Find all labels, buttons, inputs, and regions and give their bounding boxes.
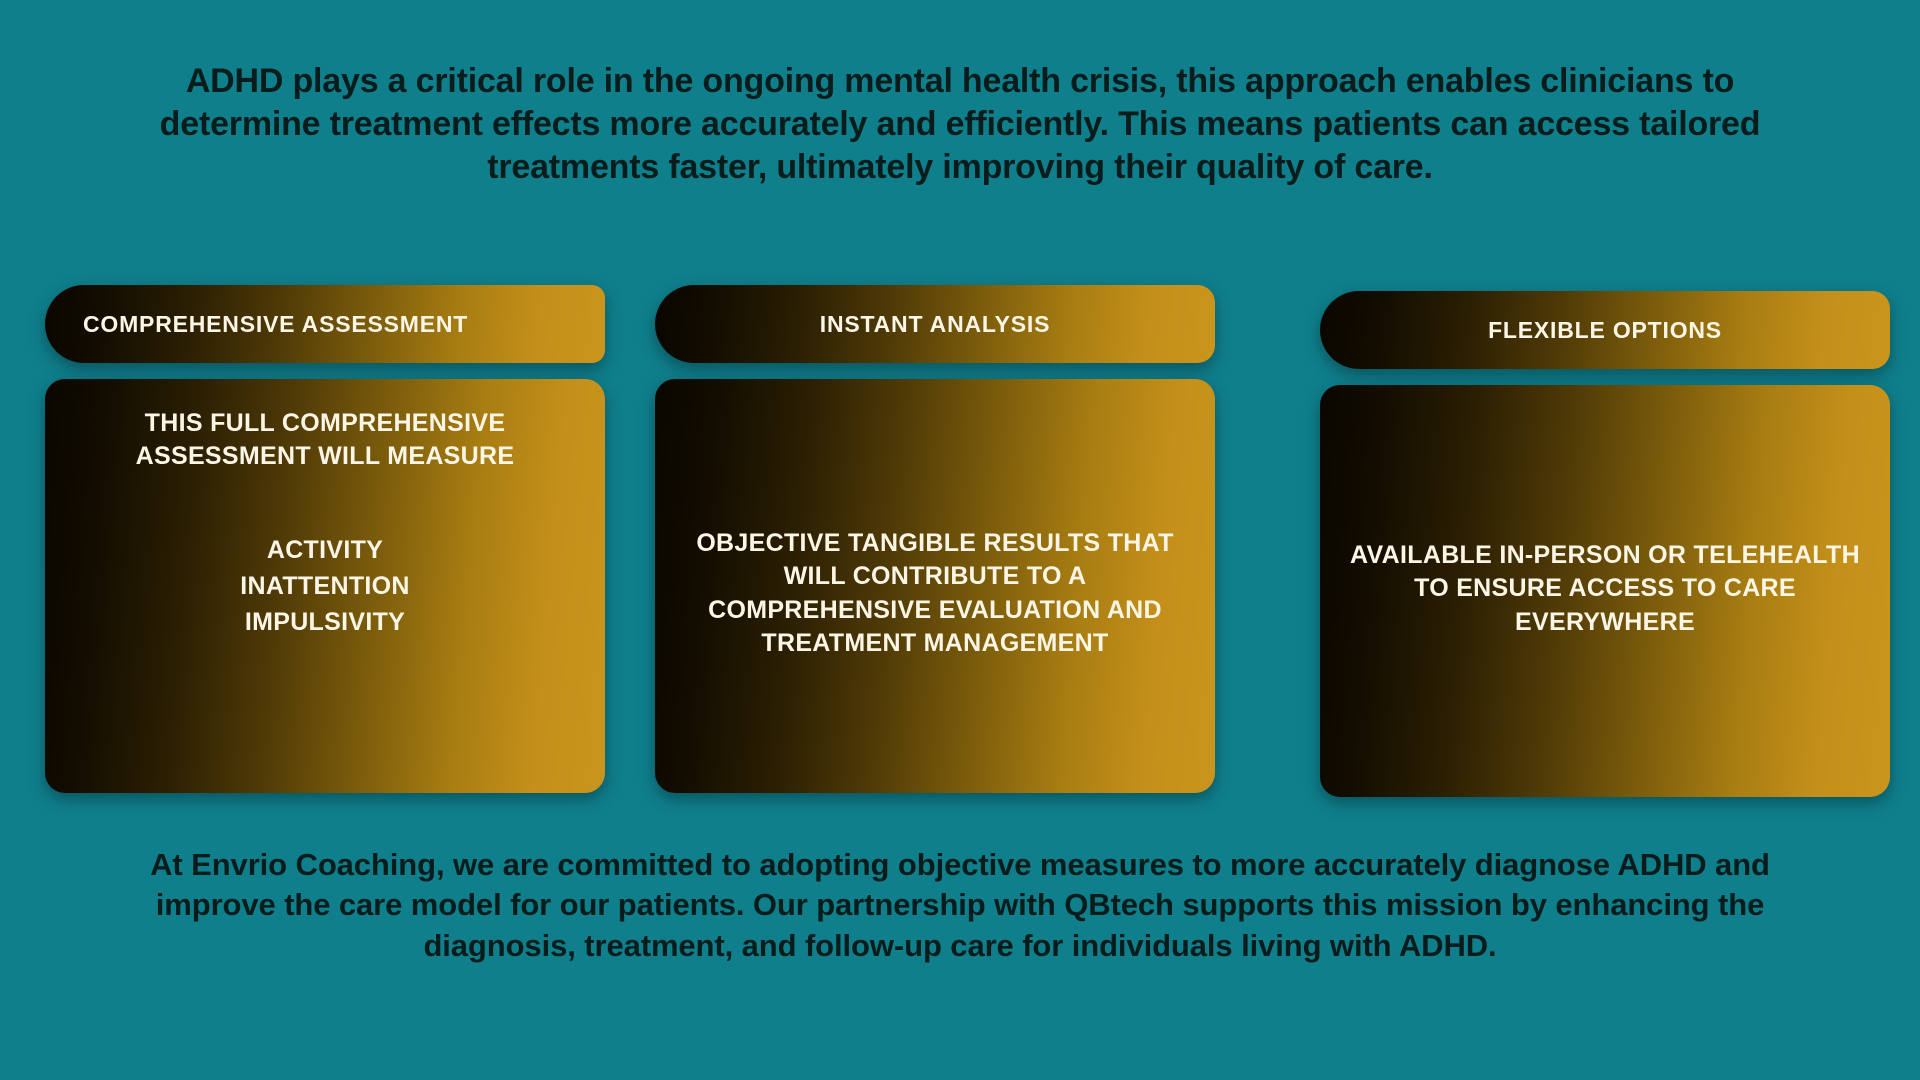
card-header-comprehensive-assessment[interactable]: COMPREHENSIVE ASSESSMENT xyxy=(45,285,605,363)
card-body-text: OBJECTIVE TANGIBLE RESULTS THAT WILL CON… xyxy=(677,527,1193,660)
card-header-label: COMPREHENSIVE ASSESSMENT xyxy=(45,311,605,338)
card-header-instant-analysis[interactable]: INSTANT ANALYSIS xyxy=(655,285,1215,363)
card-body-intro-text: THIS FULL COMPREHENSIVE ASSESSMENT WILL … xyxy=(67,407,583,474)
card-header-flexible-options[interactable]: FLEXIBLE OPTIONS xyxy=(1320,291,1890,369)
card-body-instant-analysis: OBJECTIVE TANGIBLE RESULTS THAT WILL CON… xyxy=(655,379,1215,793)
card-header-label: FLEXIBLE OPTIONS xyxy=(1468,317,1742,344)
feature-card-instant-analysis[interactable]: INSTANT ANALYSIS OBJECTIVE TANGIBLE RESU… xyxy=(655,285,1215,793)
feature-card-comprehensive-assessment[interactable]: COMPREHENSIVE ASSESSMENT THIS FULL COMPR… xyxy=(45,285,605,793)
intro-paragraph: ADHD plays a critical role in the ongoin… xyxy=(110,60,1810,188)
infographic-page: { "theme": { "background_teal": "#0f7f8c… xyxy=(0,0,1920,1080)
card-body-measure-list: ACTIVITY INATTENTION IMPULSIVITY xyxy=(67,532,583,641)
card-body-flexible-options: AVAILABLE IN-PERSON OR TELEHEALTH TO ENS… xyxy=(1320,385,1890,797)
feature-card-group: COMPREHENSIVE ASSESSMENT THIS FULL COMPR… xyxy=(0,285,1920,825)
card-body-comprehensive-assessment: THIS FULL COMPREHENSIVE ASSESSMENT WILL … xyxy=(45,379,605,793)
feature-card-flexible-options[interactable]: FLEXIBLE OPTIONS AVAILABLE IN-PERSON OR … xyxy=(1320,291,1890,797)
card-body-text: AVAILABLE IN-PERSON OR TELEHEALTH TO ENS… xyxy=(1342,539,1868,639)
card-header-label: INSTANT ANALYSIS xyxy=(800,311,1070,338)
outro-paragraph: At Envrio Coaching, we are committed to … xyxy=(110,845,1810,966)
